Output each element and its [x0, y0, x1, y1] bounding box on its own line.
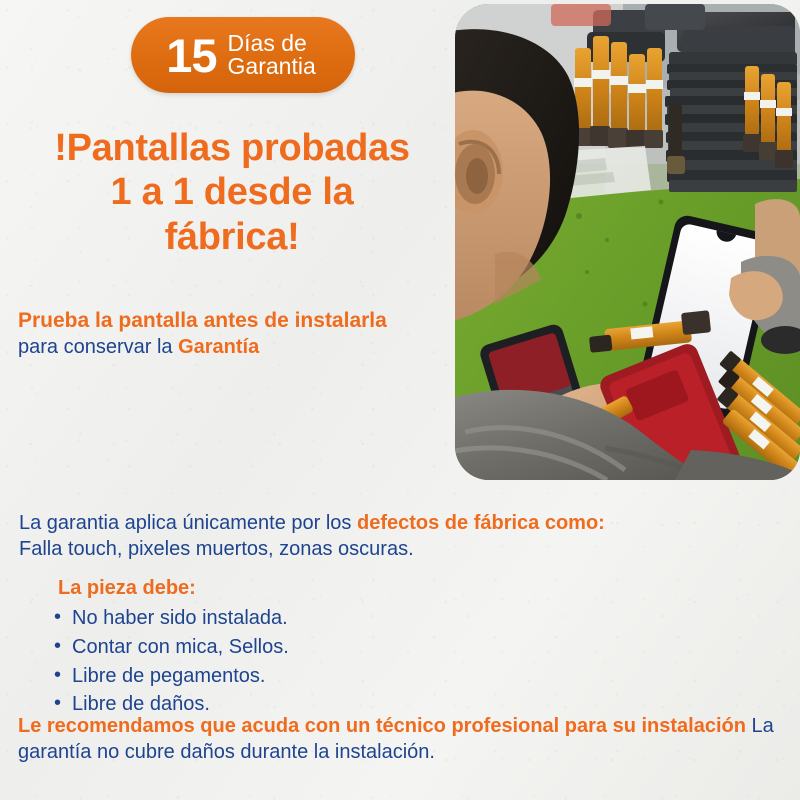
badge-number: 15 [166, 32, 216, 79]
list-item: No haber sido instalada. [52, 604, 289, 633]
technician-photo [455, 4, 800, 480]
badge-text: Días de Garantia [228, 32, 316, 79]
installation-recommendation: Le recomendamos que acuda con un técnico… [18, 715, 746, 737]
photo-image [455, 4, 800, 480]
list-item: Libre de pegamentos. [52, 662, 289, 691]
requirements-title: La pieza debe: [58, 577, 196, 600]
subhead-warranty-word: Garantía [178, 336, 259, 358]
badge-line-1: Días de [228, 32, 316, 55]
warranty-line-2: Falla touch, pixeles muertos, zonas oscu… [19, 536, 789, 562]
warranty-coverage-text: La garantia aplica únicamente por los de… [19, 510, 789, 563]
list-item: Contar con mica, Sellos. [52, 633, 289, 662]
badge-line-2: Garantia [228, 55, 316, 78]
warranty-defects-highlight: defectos de fábrica como: [357, 512, 605, 534]
page-title: !Pantallas probadas 1 a 1 desde la fábri… [8, 126, 456, 259]
subhead-line-2: para conservar la Garantía [18, 334, 458, 360]
requirements-list: No haber sido instalada. Contar con mica… [52, 604, 289, 719]
subhead-line-1: Prueba la pantalla antes de instalarla [18, 307, 458, 334]
warranty-line-1: La garantia aplica únicamente por los de… [19, 510, 789, 536]
warranty-days-badge: 15 Días de Garantia [131, 17, 355, 93]
headline-line-1: !Pantallas probadas [8, 126, 456, 170]
warranty-line-1-text: La garantia aplica únicamente por los [19, 512, 351, 534]
headline-line-3: fábrica! [8, 215, 456, 259]
warranty-poster: 15 Días de Garantia !Pantallas probadas … [0, 0, 800, 800]
headline-line-2: 1 a 1 desde la [8, 170, 456, 214]
subhead-line-2-text: para conservar la [18, 336, 173, 358]
installation-note: Le recomendamos que acuda con un técnico… [18, 713, 793, 765]
subheading: Prueba la pantalla antes de instalarla p… [18, 307, 458, 360]
